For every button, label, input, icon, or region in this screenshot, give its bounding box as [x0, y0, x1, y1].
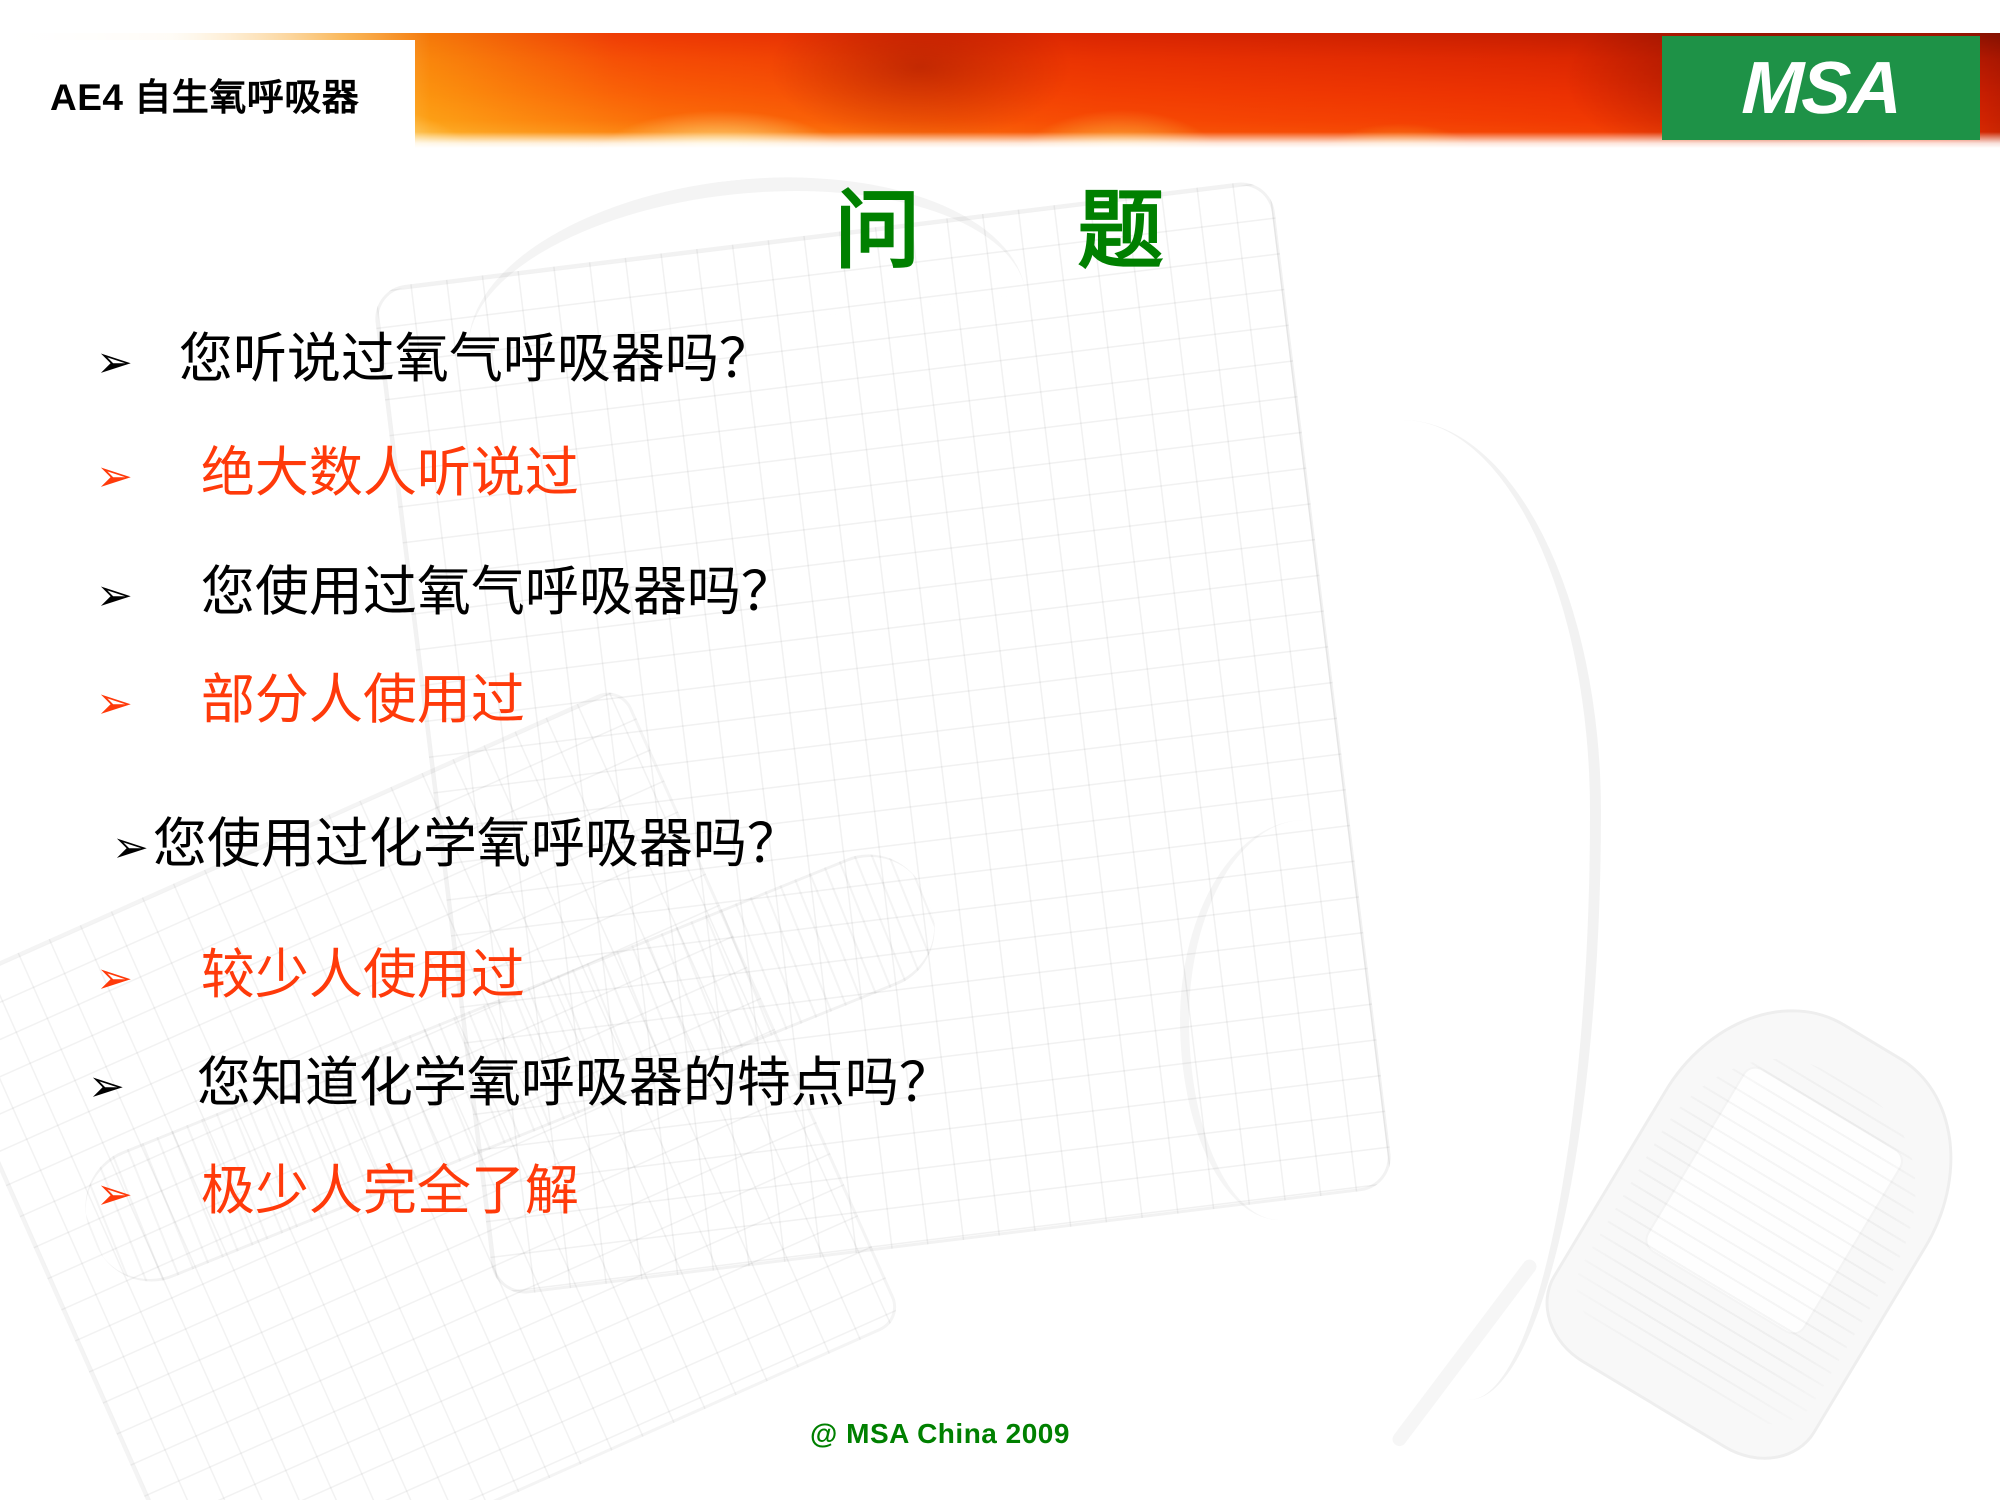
- list-item: ➢ 极少人完全了解: [96, 1162, 1560, 1220]
- footer-copyright: @ MSA China 2009: [0, 1418, 2000, 1450]
- list-item-label: 您使用过化学氧呼吸器吗？: [153, 815, 801, 873]
- arrow-bullet-icon: ➢: [96, 455, 133, 499]
- arrow-bullet-icon: ➢: [96, 1173, 133, 1217]
- header-title-plaque: AE4 自生氧呼吸器: [0, 40, 415, 148]
- list-item: ➢ 绝大数人听说过: [96, 444, 1560, 502]
- msa-logo-text: MSA: [1740, 51, 1901, 125]
- arrow-bullet-icon: ➢: [96, 957, 133, 1001]
- list-item: ➢ 您知道化学氧呼吸器的特点吗？: [88, 1054, 1560, 1112]
- list-item-label: 您使用过氧气呼吸器吗？: [201, 563, 795, 621]
- watermark-handset-device: [1522, 962, 2000, 1485]
- page-title: 问 题: [0, 160, 2000, 285]
- list-item-label: 较少人使用过: [201, 946, 525, 1004]
- list-item: ➢ 较少人使用过: [96, 946, 1560, 1004]
- list-item: ➢ 您使用过化学氧呼吸器吗？: [112, 815, 1560, 873]
- list-item-label: 您听说过氧气呼吸器吗？: [179, 330, 773, 388]
- arrow-bullet-icon: ➢: [96, 341, 133, 385]
- list-item: ➢ 部分人使用过: [96, 671, 1560, 729]
- watermark-handset-ribs: [1557, 1015, 1964, 1445]
- list-item-label: 极少人完全了解: [201, 1162, 579, 1220]
- list-item-label: 绝大数人听说过: [201, 444, 579, 502]
- bullet-list: ➢ 您听说过氧气呼吸器吗？ ➢ 绝大数人听说过 ➢ 您使用过氧气呼吸器吗？ ➢ …: [0, 330, 1560, 1221]
- header-title: AE4 自生氧呼吸器: [0, 67, 359, 121]
- presentation-slide: AE4 自生氧呼吸器 MSA 问 题 ➢ 您听说过氧气呼吸器吗？ ➢ 绝大数人听…: [0, 0, 2000, 1500]
- arrow-bullet-icon: ➢: [88, 1065, 125, 1109]
- arrow-bullet-icon: ➢: [96, 682, 133, 726]
- list-item: ➢ 您听说过氧气呼吸器吗？: [96, 330, 1560, 388]
- list-item: ➢ 您使用过氧气呼吸器吗？: [96, 563, 1560, 621]
- arrow-bullet-icon: ➢: [96, 574, 133, 618]
- arrow-bullet-icon: ➢: [112, 826, 149, 870]
- list-item-label: 部分人使用过: [201, 671, 525, 729]
- list-item-label: 您知道化学氧呼吸器的特点吗？: [197, 1054, 953, 1112]
- msa-logo: MSA: [1662, 36, 1980, 140]
